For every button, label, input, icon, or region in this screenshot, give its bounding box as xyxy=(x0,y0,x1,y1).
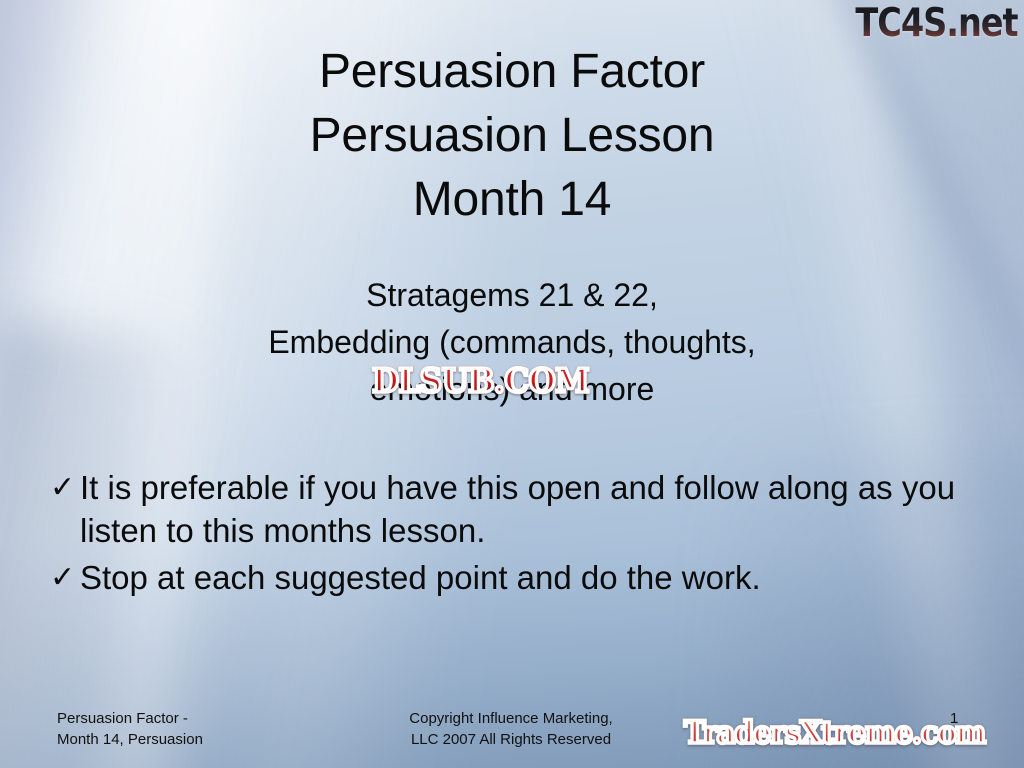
slide-subtitle-line-1: Stratagems 21 & 22, xyxy=(0,272,1024,319)
tc4s-watermark: TC4S.net xyxy=(856,2,1018,46)
footer-left-text: Persuasion Factor - Month 14, Persuasion xyxy=(57,708,203,750)
slide-title-line-3: Month 14 xyxy=(0,168,1024,232)
dlsub-watermark: DLSUB.COM xyxy=(372,363,589,399)
checkmark-icon: ✓ xyxy=(46,466,80,509)
tradersxtreme-logo: TradersXtreme.com xyxy=(684,716,985,750)
slide-title-line-2: Persuasion Lesson xyxy=(0,104,1024,168)
footer-copyright: Copyright Influence Marketing, LLC 2007 … xyxy=(368,708,654,750)
bullet-text: Stop at each suggested point and do the … xyxy=(80,556,976,599)
list-item: ✓ It is preferable if you have this open… xyxy=(46,466,976,552)
list-item: ✓ Stop at each suggested point and do th… xyxy=(46,556,976,599)
slide-title-line-1: Persuasion Factor xyxy=(0,40,1024,104)
presentation-slide: Persuasion Factor Persuasion Lesson Mont… xyxy=(0,0,1024,768)
slide-title: Persuasion Factor Persuasion Lesson Mont… xyxy=(0,40,1024,232)
slide-subtitle-line-2: Embedding (commands, thoughts, xyxy=(0,319,1024,366)
checkmark-icon: ✓ xyxy=(46,556,80,599)
bullet-list: ✓ It is preferable if you have this open… xyxy=(46,466,976,603)
bullet-text: It is preferable if you have this open a… xyxy=(80,466,976,552)
